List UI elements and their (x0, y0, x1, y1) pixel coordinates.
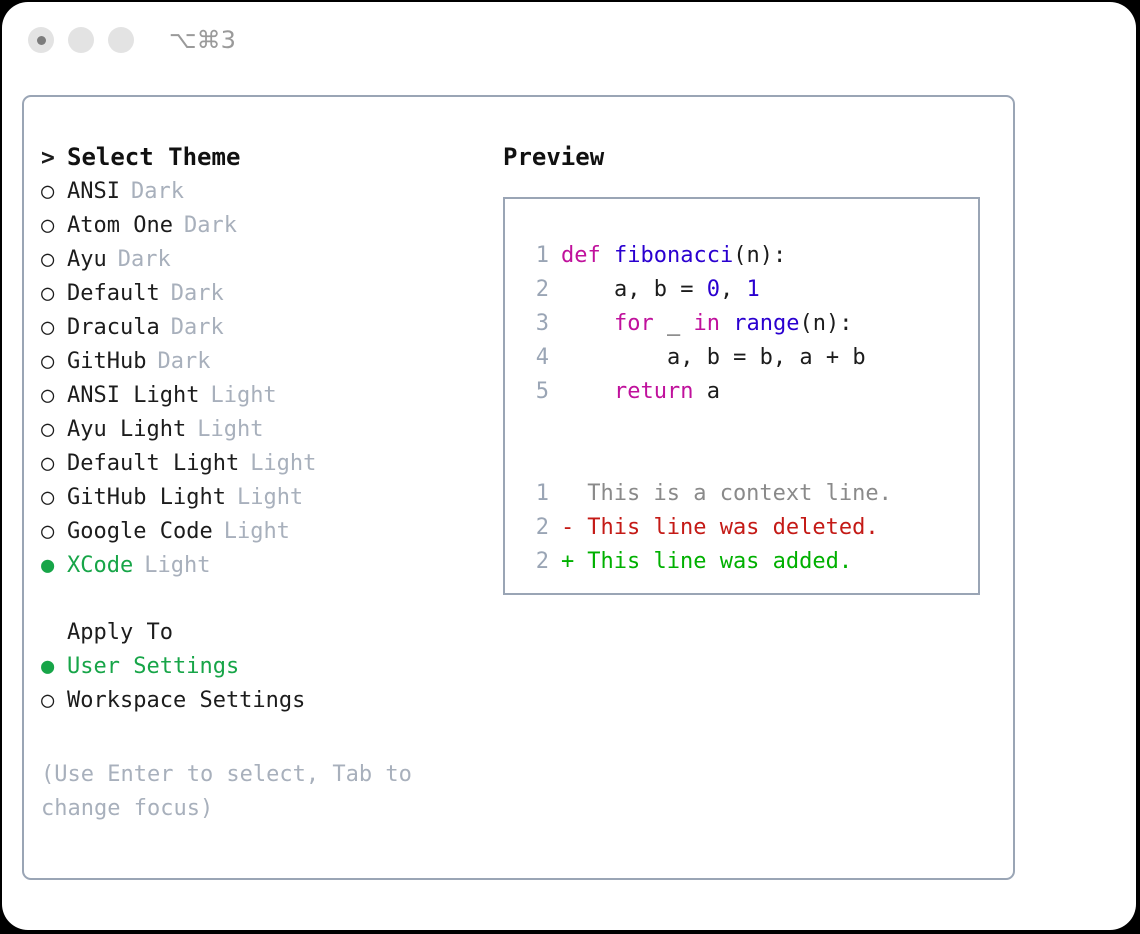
radio-selected-icon: ● (41, 553, 67, 578)
radio-selected-icon: ● (41, 654, 67, 679)
code-token: range (733, 311, 799, 336)
radio-icon: ○ (41, 281, 67, 306)
diff-text: This is a context line. (574, 481, 892, 506)
radio-icon: ○ (41, 451, 67, 476)
theme-tag: Dark (171, 315, 224, 340)
diff-line-added: 2 + This line was added. (523, 549, 978, 583)
theme-item-dracula[interactable]: ○ Dracula Dark (41, 315, 481, 349)
theme-item-github[interactable]: ○ GitHub Dark (41, 349, 481, 383)
code-token: return (614, 379, 693, 404)
theme-name: Google Code (67, 519, 213, 544)
code-token (561, 311, 614, 336)
radio-icon: ○ (41, 519, 67, 544)
radio-icon: ○ (41, 179, 67, 204)
prompt-caret-icon: > (41, 145, 67, 171)
code-token: 1 (746, 277, 759, 302)
line-number: 5 (523, 379, 549, 404)
theme-name: Atom One (67, 213, 173, 238)
code-line: 3 for _ in range (n): (523, 311, 978, 345)
theme-item-ansi-light[interactable]: ○ ANSI Light Light (41, 383, 481, 417)
preview-spacer (523, 447, 978, 481)
line-number: 2 (523, 515, 549, 540)
diff-line-deleted: 2 - This line was deleted. (523, 515, 978, 549)
preview-box: 1 def fibonacci (n): 2 a, b = 0 , 1 3 fo… (503, 197, 980, 595)
theme-name: Ayu (67, 247, 107, 272)
theme-tag: Light (210, 383, 276, 408)
code-line: 4 a, b = b, a + b (523, 345, 978, 379)
radio-icon: ○ (41, 383, 67, 408)
line-number: 2 (523, 277, 549, 302)
theme-name: XCode (67, 553, 133, 578)
line-number: 1 (523, 481, 549, 506)
theme-tag: Light (144, 553, 210, 578)
theme-tag: Dark (131, 179, 184, 204)
theme-item-google-code[interactable]: ○ Google Code Light (41, 519, 481, 553)
window-button-1[interactable] (28, 27, 54, 53)
window-button-3[interactable] (108, 27, 134, 53)
code-token: _ (654, 311, 694, 336)
theme-item-atom-one[interactable]: ○ Atom One Dark (41, 213, 481, 247)
theme-list-column: > Select Theme ○ ANSI Dark ○ Atom One Da… (41, 143, 481, 826)
theme-name: ANSI Light (67, 383, 199, 408)
theme-name: Default Light (67, 451, 239, 476)
theme-name: Ayu Light (67, 417, 186, 442)
code-token: def (561, 243, 614, 268)
theme-item-github-light[interactable]: ○ GitHub Light Light (41, 485, 481, 519)
code-token (561, 379, 614, 404)
code-token: , (720, 277, 747, 302)
theme-tag: Light (250, 451, 316, 476)
theme-item-xcode[interactable]: ● XCode Light (41, 553, 481, 587)
diff-sign (561, 481, 574, 506)
keyboard-hint-text: (Use Enter to select, Tab to change focu… (41, 758, 441, 826)
radio-icon: ○ (41, 485, 67, 510)
theme-name: Default (67, 281, 160, 306)
code-token: (n): (733, 243, 786, 268)
line-number: 4 (523, 345, 549, 370)
preview-spacer (523, 413, 978, 447)
theme-selector-panel: > Select Theme ○ ANSI Dark ○ Atom One Da… (22, 95, 1015, 880)
theme-name: GitHub Light (67, 485, 226, 510)
code-token: fibonacci (614, 243, 733, 268)
apply-to-heading: ○ Apply To (41, 620, 481, 654)
code-token: in (693, 311, 720, 336)
theme-tag: Dark (171, 281, 224, 306)
keyboard-shortcut-label: ⌥⌘3 (169, 26, 236, 54)
radio-icon: ○ (41, 417, 67, 442)
apply-to-label: Apply To (67, 620, 173, 645)
code-token: 0 (707, 277, 720, 302)
radio-icon: ○ (41, 213, 67, 238)
preview-column: Preview 1 def fibonacci (n): 2 a, b = 0 … (503, 143, 993, 595)
theme-item-ayu-light[interactable]: ○ Ayu Light Light (41, 417, 481, 451)
diff-text: This line was added. (574, 549, 852, 574)
theme-tag: Light (237, 485, 303, 510)
radio-icon: ○ (41, 688, 67, 713)
code-line: 2 a, b = 0 , 1 (523, 277, 978, 311)
theme-name: Dracula (67, 315, 160, 340)
radio-icon: ○ (41, 349, 67, 374)
theme-tag: Dark (157, 349, 210, 374)
diff-sign: - (561, 515, 574, 540)
line-number: 1 (523, 243, 549, 268)
code-token: a, b = b, a + b (561, 345, 866, 370)
code-token: (n): (799, 311, 852, 336)
select-theme-label: Select Theme (67, 143, 240, 171)
theme-name: ANSI (67, 179, 120, 204)
theme-tag: Light (224, 519, 290, 544)
apply-to-option-workspace-settings[interactable]: ○ Workspace Settings (41, 688, 481, 722)
code-line: 5 return a (523, 379, 978, 413)
theme-item-default-light[interactable]: ○ Default Light Light (41, 451, 481, 485)
code-token: a, b = (561, 277, 707, 302)
diff-line-context: 1 This is a context line. (523, 481, 978, 515)
diff-sign: + (561, 549, 574, 574)
code-token: a (693, 379, 720, 404)
apply-to-option-label: User Settings (67, 654, 239, 679)
apply-to-option-user-settings[interactable]: ● User Settings (41, 654, 481, 688)
radio-icon: ○ (41, 247, 67, 272)
apply-to-section: ○ Apply To ● User Settings ○ Workspace S… (41, 620, 481, 722)
theme-tag: Light (197, 417, 263, 442)
apply-to-option-label: Workspace Settings (67, 688, 305, 713)
theme-item-ansi[interactable]: ○ ANSI Dark (41, 179, 481, 213)
theme-item-ayu[interactable]: ○ Ayu Dark (41, 247, 481, 281)
code-token: for (614, 311, 654, 336)
diff-text: This line was deleted. (574, 515, 879, 540)
preview-heading: Preview (503, 143, 993, 171)
theme-tag: Dark (118, 247, 171, 272)
terminal-window: ⌥⌘3 > Select Theme ○ ANSI Dark ○ Atom On… (2, 2, 1136, 930)
code-token (720, 311, 733, 336)
spacer: ○ (41, 620, 67, 645)
theme-name: GitHub (67, 349, 146, 374)
line-number: 2 (523, 549, 549, 574)
window-titlebar: ⌥⌘3 (2, 2, 1136, 78)
code-line: 1 def fibonacci (n): (523, 243, 978, 277)
window-button-2[interactable] (68, 27, 94, 53)
radio-icon: ○ (41, 315, 67, 340)
theme-item-default[interactable]: ○ Default Dark (41, 281, 481, 315)
window-button-1-dot (37, 36, 46, 45)
select-theme-heading: > Select Theme (41, 143, 481, 179)
theme-tag: Dark (184, 213, 237, 238)
line-number: 3 (523, 311, 549, 336)
